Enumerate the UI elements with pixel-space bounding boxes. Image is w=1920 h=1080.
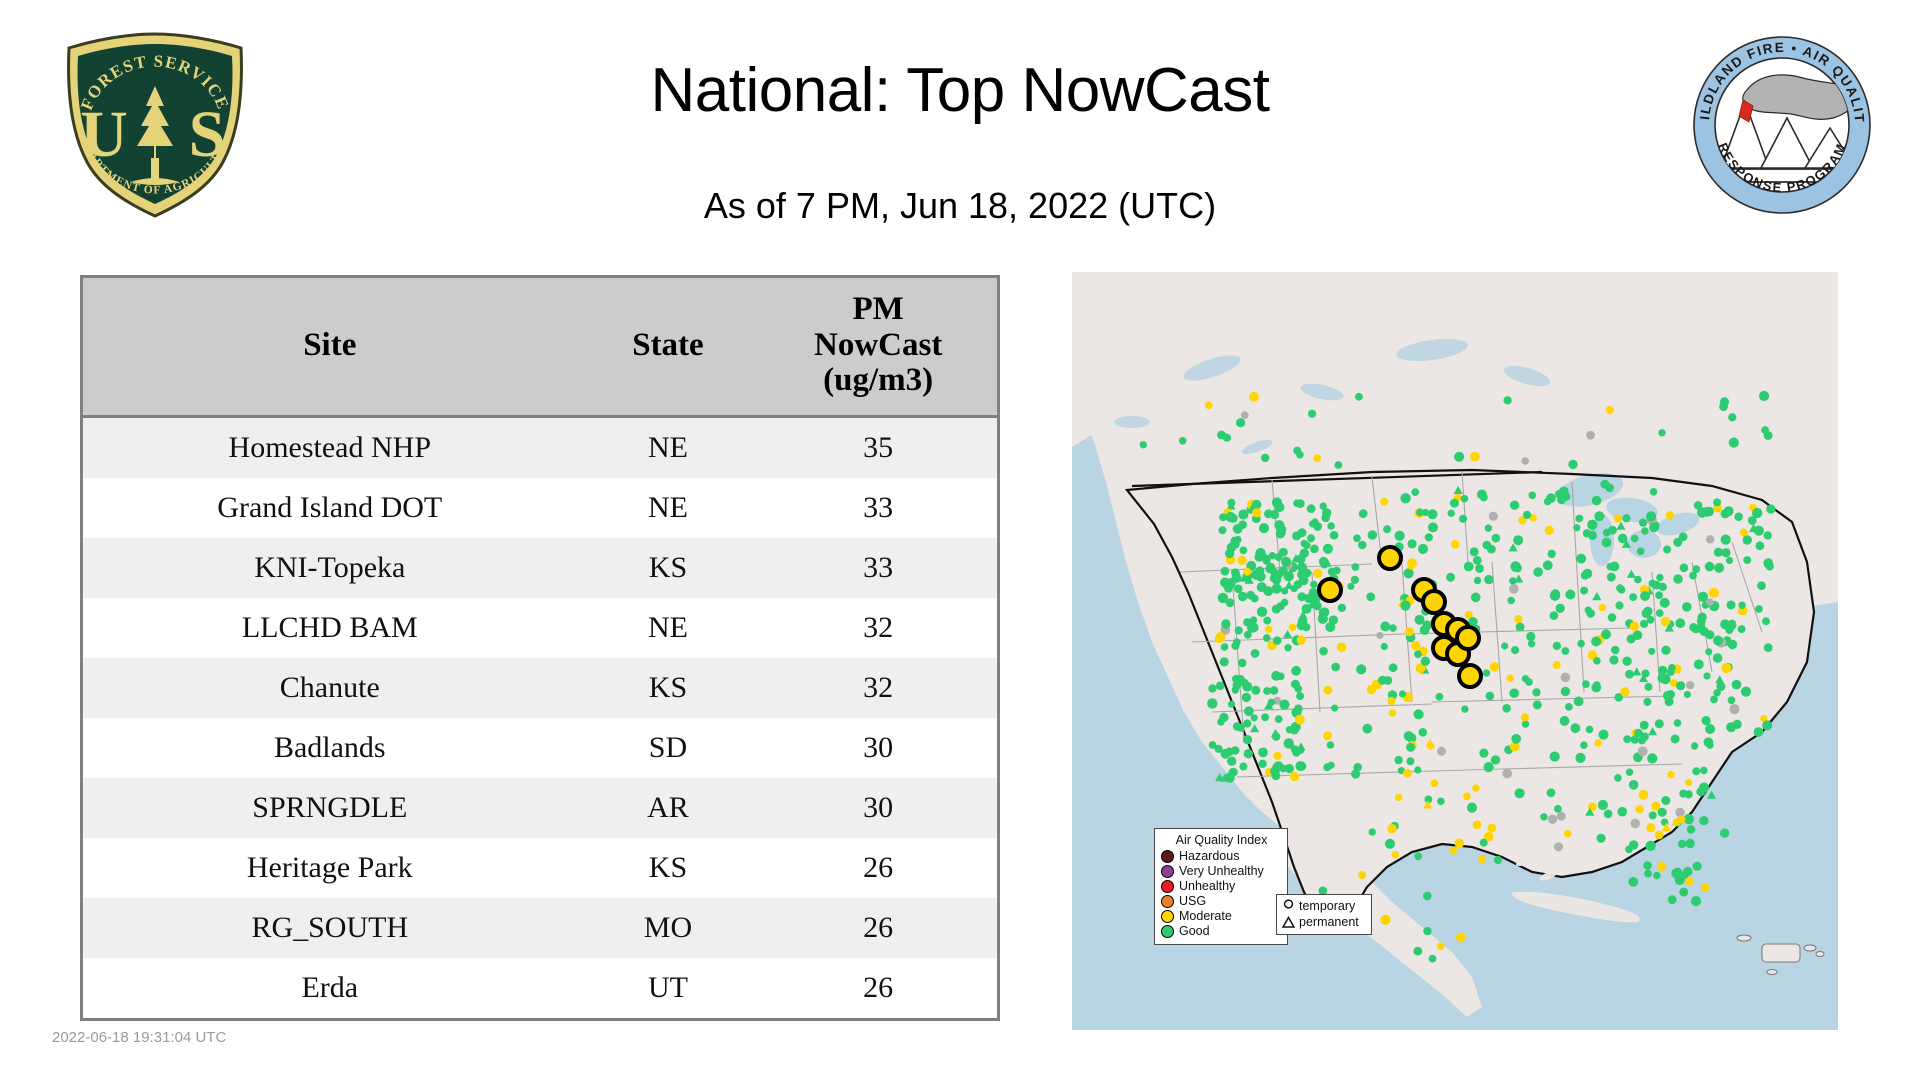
top-site-marker[interactable] (1319, 579, 1341, 601)
monitor-marker (1470, 547, 1479, 556)
monitor-marker (1263, 634, 1271, 642)
monitor-marker (1580, 587, 1588, 595)
column-header-site: Site (83, 278, 577, 416)
monitor-marker (1661, 646, 1670, 655)
monitor-marker (1258, 760, 1266, 768)
monitor-marker (1220, 657, 1229, 666)
monitor-marker (1387, 697, 1395, 705)
page-subtitle: As of 7 PM, Jun 18, 2022 (UTC) (0, 185, 1920, 227)
monitor-marker (1140, 441, 1147, 448)
table-row: LLCHD BAMNE32 (83, 598, 997, 658)
monitor-marker (1655, 719, 1664, 728)
table-row: ErdaUT26 (83, 958, 997, 1018)
monitor-marker (1764, 643, 1773, 652)
aqi-color-swatch (1161, 880, 1174, 893)
triangle-icon (1281, 915, 1296, 930)
monitor-marker (1713, 498, 1721, 506)
monitor-marker (1756, 541, 1765, 550)
monitor-marker (1359, 509, 1368, 518)
monitor-marker (1666, 511, 1674, 519)
monitor-marker (1743, 535, 1752, 544)
monitor-marker (1310, 581, 1318, 589)
cell-value: 26 (759, 898, 997, 958)
monitor-marker (1565, 590, 1575, 600)
monitor-marker (1392, 851, 1399, 858)
aqi-legend: Air Quality Index HazardousVery Unhealth… (1154, 828, 1288, 945)
monitor-marker (1408, 539, 1417, 548)
monitor-marker (1358, 871, 1366, 879)
monitor-marker (1404, 568, 1414, 578)
cell-site: Erda (83, 958, 577, 1018)
monitor-marker (1533, 567, 1543, 577)
monitor-marker (1593, 657, 1601, 665)
monitor-marker (1313, 454, 1321, 462)
monitor-marker (1660, 598, 1670, 608)
monitor-marker (1233, 524, 1243, 534)
monitor-marker (1480, 493, 1488, 501)
monitor-marker (1625, 670, 1634, 679)
monitor-marker (1207, 698, 1217, 708)
monitor-marker (1525, 678, 1533, 686)
monitor-marker (1277, 673, 1285, 681)
table-row: ChanuteKS32 (83, 658, 997, 718)
monitor-marker (1399, 690, 1406, 697)
monitor-marker (1706, 535, 1714, 543)
monitor-marker (1471, 593, 1481, 603)
monitor-marker (1575, 515, 1583, 523)
monitor-marker (1719, 402, 1728, 411)
monitor-marker (1327, 741, 1335, 749)
monitor-marker (1648, 648, 1655, 655)
monitor-marker (1454, 452, 1464, 462)
aqi-legend-label: USG (1179, 895, 1206, 908)
monitor-marker (1540, 813, 1547, 820)
monitor-marker (1721, 535, 1731, 545)
monitor-marker (1414, 852, 1422, 860)
monitor-marker (1223, 434, 1231, 442)
monitor-marker (1238, 509, 1248, 519)
monitor-marker (1297, 592, 1306, 601)
monitor-marker (1389, 624, 1397, 632)
monitor-marker (1407, 562, 1415, 570)
monitor-marker (1456, 933, 1466, 943)
monitor-marker (1221, 619, 1230, 628)
monitor-marker (1741, 687, 1751, 697)
monitor-marker (1594, 511, 1604, 521)
monitor-marker (1675, 618, 1685, 628)
pm-nowcast-line1: PM (763, 292, 993, 328)
monitor-marker (1313, 602, 1322, 611)
monitor-marker (1489, 512, 1498, 521)
monitor-marker (1544, 498, 1552, 506)
monitor-marker (1568, 460, 1577, 469)
monitor-marker (1754, 727, 1764, 737)
monitor-marker (1251, 686, 1260, 695)
monitor-marker (1618, 807, 1628, 817)
cell-site: Grand Island DOT (83, 478, 577, 538)
monitor-marker (1689, 623, 1698, 632)
monitor-marker (1286, 726, 1293, 733)
monitor-marker (1250, 616, 1258, 624)
cell-site: Homestead NHP (83, 416, 577, 478)
legend-row-permanent: permanent (1281, 914, 1367, 930)
monitor-marker (1289, 624, 1297, 632)
monitor-marker (1428, 509, 1438, 519)
monitor-marker (1238, 659, 1247, 668)
cell-state: MO (577, 898, 760, 958)
monitor-marker (1763, 558, 1773, 568)
top-site-marker[interactable] (1457, 627, 1479, 649)
monitor-marker (1726, 557, 1733, 564)
monitor-marker (1221, 643, 1229, 651)
monitor-marker (1630, 819, 1640, 829)
monitor-marker (1575, 753, 1585, 763)
monitor-marker (1696, 787, 1705, 796)
monitor-marker (1277, 528, 1286, 537)
monitor-marker (1464, 562, 1474, 572)
legend-label-permanent: permanent (1299, 916, 1359, 929)
monitor-marker (1529, 492, 1537, 500)
monitor-marker (1296, 451, 1304, 459)
monitor-marker (1494, 856, 1502, 864)
monitor-marker (1557, 812, 1566, 821)
monitor-marker (1679, 888, 1688, 897)
aqi-legend-row: Very Unhealthy (1161, 864, 1282, 879)
monitor-marker (1362, 724, 1372, 734)
monitor-marker (1576, 554, 1586, 564)
monitor-marker (1643, 698, 1651, 706)
monitor-marker (1713, 653, 1723, 663)
monitor-marker (1400, 493, 1410, 503)
monitor-marker (1263, 586, 1273, 596)
monitor-marker (1651, 802, 1660, 811)
monitor-marker (1650, 488, 1658, 496)
table-row: Grand Island DOTNE33 (83, 478, 997, 538)
monitor-marker (1655, 591, 1663, 599)
monitor-marker (1615, 601, 1623, 609)
monitor-marker (1227, 757, 1236, 766)
monitor-marker (1261, 713, 1269, 721)
monitor-marker (1293, 499, 1301, 507)
monitor-marker (1403, 769, 1412, 778)
monitor-marker (1240, 547, 1248, 555)
monitor-marker (1602, 538, 1612, 548)
monitor-marker (1237, 675, 1245, 683)
monitor-marker (1734, 512, 1743, 521)
monitor-marker (1473, 556, 1482, 565)
monitor-marker (1446, 573, 1455, 582)
monitor-marker (1479, 749, 1488, 758)
monitor-marker (1259, 523, 1269, 533)
monitor-marker (1738, 625, 1746, 633)
monitor-marker (1645, 841, 1655, 851)
dashboard-page: FOREST SERVICE DEPARTMENT OF AGRICULTURE… (0, 0, 1920, 1080)
monitor-marker (1380, 498, 1388, 506)
monitor-marker (1467, 803, 1477, 813)
monitor-marker (1429, 955, 1437, 963)
monitor-marker (1577, 640, 1585, 648)
monitor-marker (1727, 601, 1736, 610)
monitor-marker (1333, 567, 1341, 575)
aqi-legend-row: Good (1161, 924, 1282, 939)
monitor-marker (1644, 870, 1652, 878)
monitor-marker (1425, 533, 1433, 541)
monitor-marker (1290, 772, 1299, 781)
monitor-marker (1507, 597, 1515, 605)
monitor-marker (1503, 396, 1511, 404)
monitor-marker (1455, 839, 1465, 849)
monitor-marker (1244, 631, 1252, 639)
table-row: RG_SOUTHMO26 (83, 898, 997, 958)
monitor-marker (1511, 734, 1521, 744)
monitor-marker (1228, 701, 1235, 708)
monitor-marker (1215, 634, 1224, 643)
monitor-marker (1450, 847, 1458, 855)
monitor-marker (1301, 540, 1308, 547)
monitor-marker (1657, 862, 1666, 871)
cell-state: NE (577, 478, 760, 538)
monitor-marker (1606, 406, 1614, 414)
monitor-marker (1323, 763, 1331, 771)
monitor-marker (1705, 630, 1714, 639)
monitor-marker (1642, 609, 1651, 618)
monitor-marker (1488, 824, 1497, 833)
monitor-marker (1685, 839, 1694, 848)
monitor-marker (1218, 593, 1228, 603)
monitor-marker (1656, 609, 1664, 617)
monitor-marker (1691, 742, 1698, 749)
page-title: National: Top NowCast (0, 55, 1920, 126)
monitor-marker (1574, 697, 1584, 707)
monitor-marker (1643, 861, 1652, 870)
monitor-marker (1680, 564, 1689, 573)
monitor-marker (1755, 605, 1763, 613)
monitor-marker (1437, 747, 1446, 756)
monitor-marker (1367, 685, 1376, 694)
monitor-marker (1655, 831, 1664, 840)
monitor-marker (1684, 691, 1691, 698)
monitor-marker (1323, 544, 1333, 554)
monitor-marker (1300, 549, 1309, 558)
monitor-marker (1351, 769, 1360, 778)
monitor-marker (1318, 614, 1328, 624)
top-site-marker[interactable] (1459, 665, 1481, 687)
monitor-marker (1335, 461, 1343, 469)
monitor-marker (1679, 532, 1688, 541)
monitor-marker (1665, 697, 1674, 706)
monitor-marker (1219, 713, 1228, 722)
monitor-marker (1251, 594, 1259, 602)
monitor-marker (1582, 680, 1590, 688)
monitor-marker (1420, 625, 1430, 635)
cell-site: RG_SOUTH (83, 898, 577, 958)
monitor-marker (1622, 514, 1630, 522)
monitor-marker (1323, 731, 1332, 740)
monitor-marker (1395, 531, 1405, 541)
monitor-marker (1284, 571, 1294, 581)
monitor-marker (1205, 401, 1213, 409)
monitor-marker (1668, 895, 1677, 904)
monitor-marker (1598, 730, 1608, 740)
monitor-marker (1705, 724, 1715, 734)
monitor-marker (1474, 577, 1481, 584)
monitor-marker (1608, 613, 1617, 622)
monitor-marker (1405, 627, 1414, 636)
monitor-marker (1483, 669, 1490, 676)
monitor-marker (1389, 663, 1398, 672)
top-site-marker[interactable] (1423, 591, 1445, 613)
monitor-marker (1308, 410, 1316, 418)
monitor-marker (1235, 626, 1243, 634)
monitor-marker (1762, 617, 1770, 625)
cell-state: AR (577, 778, 760, 838)
monitor-marker (1351, 563, 1359, 571)
monitor-marker (1353, 534, 1361, 542)
table-row: SPRNGDLEAR30 (83, 778, 997, 838)
monitor-marker (1526, 632, 1535, 641)
monitor-marker (1528, 640, 1535, 647)
cell-site: KNI-Topeka (83, 538, 577, 598)
monitor-marker (1638, 746, 1648, 756)
monitor-marker (1586, 726, 1594, 734)
cell-value: 32 (759, 598, 997, 658)
monitor-marker (1221, 749, 1231, 759)
cell-value: 26 (759, 838, 997, 898)
monitor-marker (1679, 790, 1687, 798)
monitor-marker (1521, 713, 1529, 721)
monitor-marker (1691, 896, 1701, 906)
monitor-marker (1685, 779, 1692, 786)
monitor-marker (1223, 582, 1230, 589)
monitor-marker (1461, 705, 1468, 712)
monitor-marker (1419, 728, 1428, 737)
monitor-marker (1639, 518, 1647, 526)
monitor-marker (1704, 737, 1714, 747)
monitor-marker (1331, 705, 1338, 712)
monitor-marker (1668, 664, 1676, 672)
monitor-marker (1692, 565, 1700, 573)
monitor-marker (1729, 704, 1739, 714)
column-header-state: State (577, 278, 760, 416)
monitor-marker (1764, 531, 1772, 539)
monitor-marker (1550, 752, 1560, 762)
monitor-marker (1295, 715, 1305, 725)
monitor-marker (1378, 676, 1387, 685)
monitor-marker (1761, 426, 1769, 434)
monitor-marker (1478, 855, 1486, 863)
monitor-marker (1683, 867, 1692, 876)
monitor-marker (1556, 604, 1565, 613)
monitor-marker (1394, 756, 1402, 764)
monitor-marker (1728, 413, 1736, 421)
monitor-marker (1548, 815, 1557, 824)
monitor-marker (1762, 720, 1772, 730)
monitor-marker (1646, 823, 1655, 832)
monitor-marker (1421, 657, 1430, 666)
monitor-marker (1646, 511, 1656, 521)
cell-state: KS (577, 838, 760, 898)
table-body: Homestead NHPNE35Grand Island DOTNE33KNI… (83, 416, 997, 1018)
monitor-marker (1216, 682, 1225, 691)
air-quality-map[interactable]: Air Quality Index HazardousVery Unhealth… (1072, 272, 1838, 1030)
monitor-marker (1411, 488, 1419, 496)
aqi-legend-label: Good (1179, 925, 1210, 938)
monitor-marker (1291, 666, 1301, 676)
monitor-marker (1356, 664, 1366, 674)
table-row: BadlandsSD30 (83, 718, 997, 778)
monitor-marker (1273, 636, 1282, 645)
monitor-marker (1297, 636, 1306, 645)
monitor-marker (1592, 496, 1602, 506)
aqi-legend-label: Hazardous (1179, 850, 1239, 863)
monitor-marker (1581, 571, 1590, 580)
monitor-marker (1594, 739, 1601, 746)
monitor-marker (1507, 675, 1514, 682)
monitor-marker (1251, 714, 1258, 721)
column-header-pm-nowcast: PM NowCast (ug/m3) (759, 278, 997, 416)
cell-value: 26 (759, 958, 997, 1018)
monitor-marker (1252, 500, 1262, 510)
monitor-marker (1614, 774, 1622, 782)
monitor-marker (1358, 541, 1367, 550)
monitor-marker (1437, 942, 1445, 950)
monitor-marker (1720, 828, 1729, 837)
monitor-marker (1682, 602, 1692, 612)
monitor-marker (1310, 545, 1319, 554)
aqi-color-swatch (1161, 865, 1174, 878)
monitor-marker (1628, 877, 1638, 887)
top-site-marker[interactable] (1379, 547, 1401, 569)
cell-site: Chanute (83, 658, 577, 718)
monitor-marker (1265, 626, 1273, 634)
monitor-marker (1647, 753, 1657, 763)
monitor-marker (1547, 788, 1556, 797)
cell-state: SD (577, 718, 760, 778)
monitor-marker (1721, 548, 1730, 557)
monitor-marker (1179, 437, 1187, 445)
monitor-marker (1698, 592, 1708, 602)
monitor-marker (1645, 683, 1653, 691)
monitor-marker (1700, 767, 1708, 775)
monitor-marker (1501, 642, 1508, 649)
cell-site: LLCHD BAM (83, 598, 577, 658)
monitor-marker (1272, 605, 1281, 614)
monitor-marker (1451, 540, 1460, 549)
monitor-marker (1586, 609, 1595, 618)
aqi-legend-label: Very Unhealthy (1179, 865, 1264, 878)
monitor-marker (1472, 785, 1479, 792)
monitor-marker (1236, 418, 1245, 427)
monitor-marker (1437, 798, 1445, 806)
monitor-marker (1252, 508, 1261, 517)
monitor-marker (1614, 514, 1622, 522)
monitor-marker (1272, 575, 1281, 584)
monitor-marker (1413, 947, 1422, 956)
monitor-marker (1678, 816, 1686, 824)
monitor-marker (1649, 811, 1657, 819)
monitor-marker (1208, 684, 1216, 692)
monitor-marker (1593, 681, 1601, 689)
cell-state: NE (577, 416, 760, 478)
monitor-marker (1313, 522, 1322, 531)
monitor-marker (1225, 512, 1235, 522)
monitor-marker (1279, 548, 1288, 557)
monitor-marker (1629, 780, 1639, 790)
aqi-legend-row: Unhealthy (1161, 879, 1282, 894)
monitor-marker (1515, 788, 1525, 798)
monitor-marker (1263, 617, 1271, 625)
monitor-marker (1368, 530, 1378, 540)
